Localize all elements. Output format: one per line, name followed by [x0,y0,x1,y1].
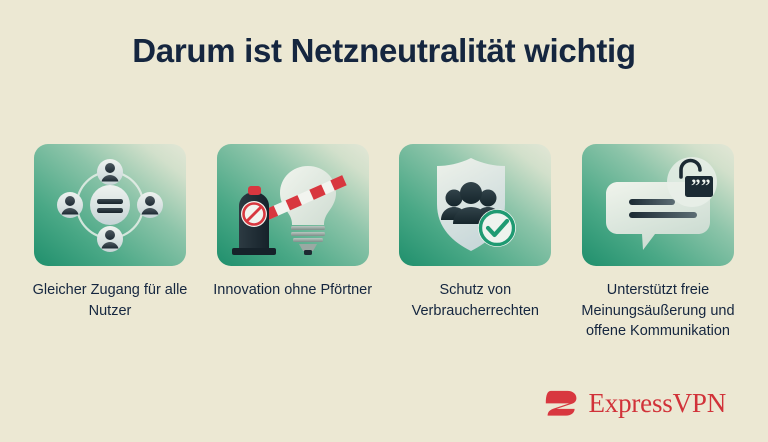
shield-consumer-protection-icon [399,144,551,266]
benefit-card-free-speech: ” ” Unterstützt freie Meinungsäußerung u… [582,144,734,342]
svg-text:”: ” [701,176,711,197]
benefit-card-caption: Unterstützt freie Meinungsäußerung und o… [575,280,740,342]
page-title: Darum ist Netzneutralität wichtig [0,32,768,70]
expressvpn-brand-logo: ExpressVPN [544,387,727,420]
infographic-canvas: Darum ist Netzneutralität wichtig [0,0,768,442]
benefit-cards-row: Gleicher Zugang für alle Nutzer [34,144,734,342]
benefit-card-consumer-protection: Schutz von Verbraucherrechten [399,144,551,321]
gatekeeper-barrier-lightbulb-icon [217,144,369,266]
svg-text:”: ” [691,176,701,197]
expressvpn-wordmark: ExpressVPN [589,390,727,417]
benefit-card-equal-access: Gleicher Zugang für alle Nutzer [34,144,186,321]
benefit-card-no-gatekeeper: Innovation ohne Pförtner [217,144,369,301]
benefit-card-caption: Innovation ohne Pförtner [210,280,375,301]
expressvpn-logo-mark [544,387,580,420]
free-speech-chat-unlock-icon: ” ” [582,144,734,266]
benefit-card-caption: Schutz von Verbraucherrechten [393,280,558,321]
benefit-card-caption: Gleicher Zugang für alle Nutzer [28,280,193,321]
equal-access-network-icon [34,144,186,266]
